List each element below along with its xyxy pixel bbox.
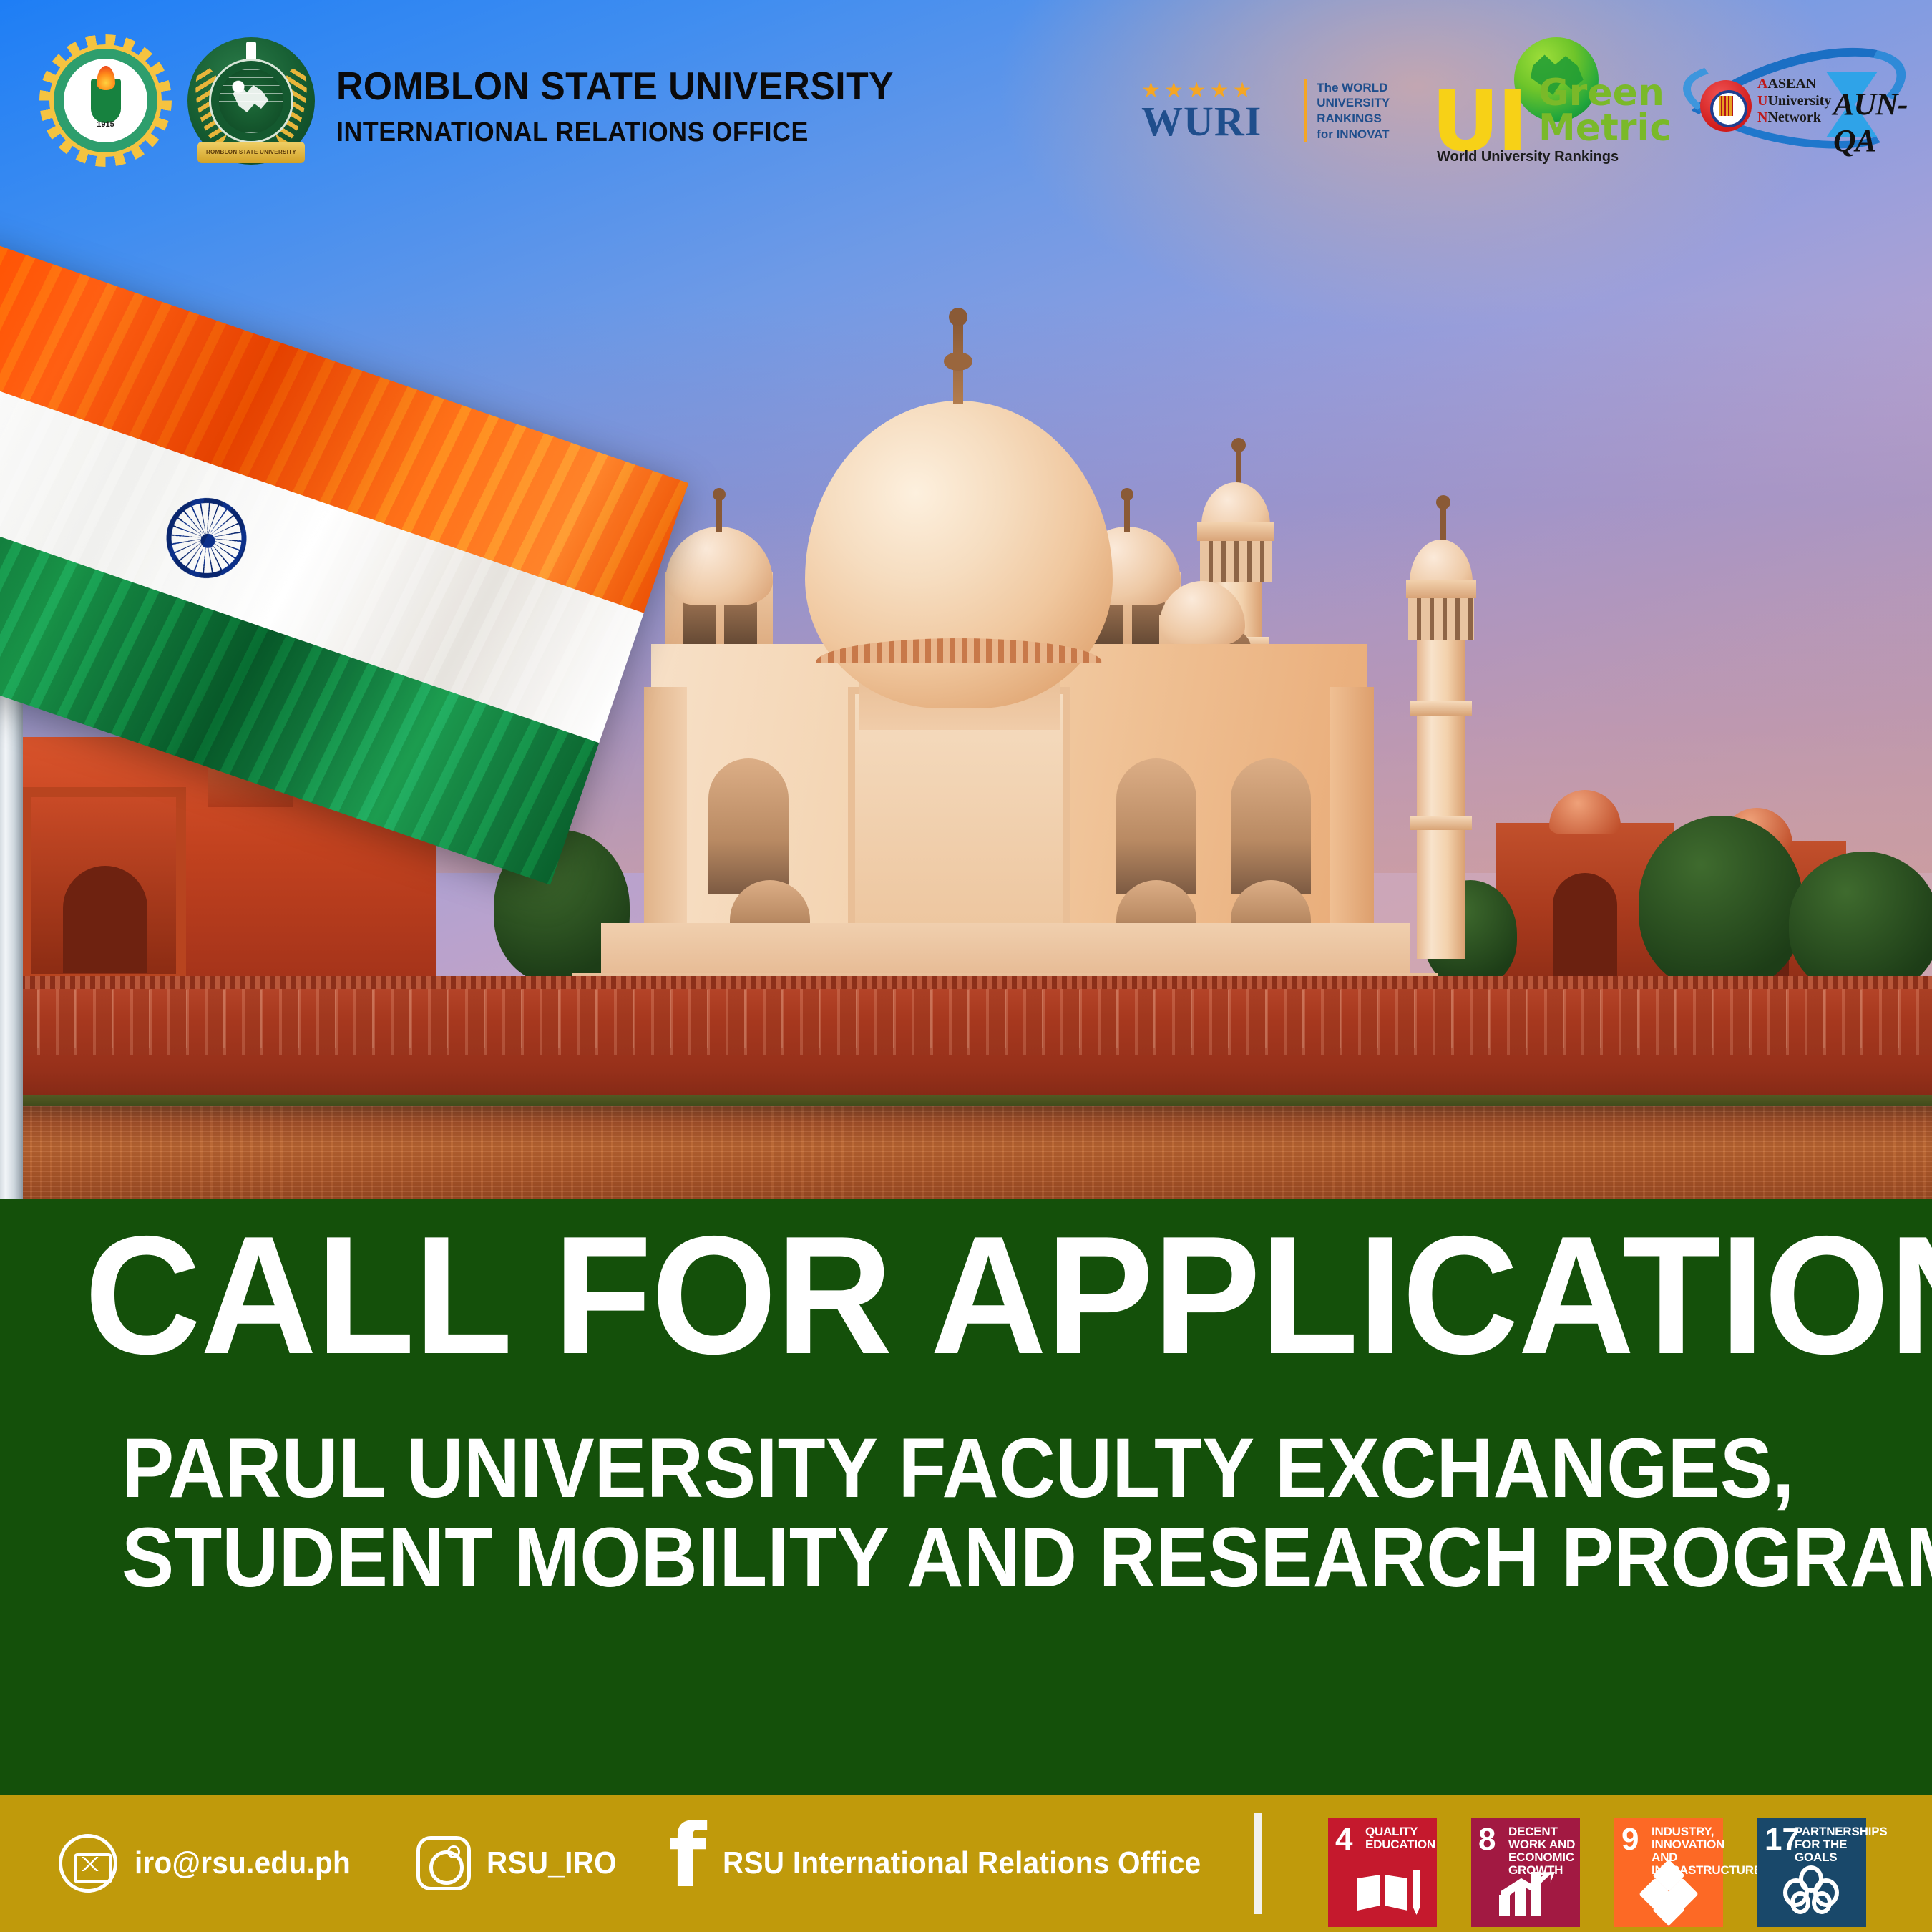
side-arch (708, 758, 789, 894)
interlocking-circles-icon (1757, 1863, 1866, 1923)
wuri-tagline-4: for INNOVAT (1317, 127, 1420, 142)
growth-chart-icon (1471, 1863, 1580, 1923)
university-name: ROMBLON STATE UNIVERSITY (336, 63, 894, 109)
sdg-title: QUALITY EDUCATION (1365, 1825, 1434, 1851)
contact-facebook[interactable]: RSU International Relations Office (628, 1833, 1243, 1894)
ui-greenmetric-logo: UI Green Metric World University Ranking… (1431, 34, 1667, 170)
poster-canvas: 1915 ROMBLON STATE UNIVERSITY ROMBLON ST… (0, 0, 1932, 1932)
organization-title-block: ROMBLON STATE UNIVERSITY INTERNATIONAL R… (336, 63, 930, 148)
open-book-and-pencil-icon (1328, 1863, 1437, 1923)
hero-photo (0, 0, 1932, 1202)
sdg-badge-8: 8 DECENT WORK AND ECONOMIC GROWTH (1471, 1818, 1580, 1927)
contact-instagram[interactable]: RSU_IRO (369, 1836, 628, 1890)
contact-instagram-label: RSU_IRO (487, 1845, 617, 1881)
aun-qa-wordmark: AUN-QA (1833, 86, 1911, 159)
contact-email-label: iro@rsu.edu.ph (135, 1845, 351, 1881)
gatehouse-portal (21, 787, 186, 984)
office-name: INTERNATIONAL RELATIONS OFFICE (336, 117, 894, 148)
contact-facebook-label: RSU International Relations Office (723, 1845, 1201, 1881)
minaret-right-outer (1417, 587, 1465, 959)
wuri-tagline-3: RANKINGS (1317, 111, 1420, 127)
program-subtitle: PARUL UNIVERSITY FACULTY EXCHANGES, STUD… (122, 1424, 1932, 1603)
tree-right-a (1639, 816, 1803, 991)
romblon-state-university-seal: 1915 (39, 34, 172, 167)
asean-university-network-text: AASEAN UUniversity NNetwork (1757, 76, 1831, 127)
chattri-left (665, 527, 773, 605)
sdg-number: 8 (1478, 1824, 1496, 1855)
facebook-icon (671, 1833, 710, 1894)
seal-year: 1915 (39, 120, 172, 129)
aun-line-1: ASEAN (1767, 76, 1816, 92)
sdg-badges: 4 QUALITY EDUCATION 8 DECENT WORK AND EC… (1328, 1818, 1866, 1927)
sdg-badge-9: 9 INDUSTRY, INNOVATION AND INFRASTRUCTUR… (1614, 1818, 1723, 1927)
subtitle-line-2: STUDENT MOBILITY AND RESEARCH PROGRAMS (122, 1513, 1932, 1603)
footer-divider (1254, 1813, 1262, 1914)
wuri-tagline: The WORLD UNIVERSITY RANKINGS for INNOVA… (1317, 80, 1420, 142)
sdg-title: PARTNERSHIPS FOR THE GOALS (1795, 1825, 1863, 1864)
wuri-logo: ★★★★★ WURI The WORLD UNIVERSITY RANKINGS… (1141, 72, 1420, 150)
contact-row: iro@rsu.edu.ph RSU_IRO RSU International… (0, 1795, 1259, 1932)
email-icon (59, 1834, 117, 1893)
aun-line-3: Network (1767, 109, 1820, 125)
poster-header: 1915 ROMBLON STATE UNIVERSITY ROMBLON ST… (0, 0, 1932, 179)
greenmetric-subtitle: World University Rankings (1437, 149, 1619, 165)
wuri-wordmark: WURI (1141, 102, 1294, 141)
page-title: CALL FOR APPLICATION (84, 1214, 1932, 1376)
sdg-number: 9 (1621, 1824, 1639, 1855)
seal-ribbon-text: ROMBLON STATE UNIVERSITY (197, 142, 305, 163)
aun-line-2: University (1767, 93, 1831, 109)
dome-finial (953, 323, 963, 404)
accreditation-logos: ★★★★★ WURI The WORLD UNIVERSITY RANKINGS… (1116, 29, 1918, 172)
cubes-icon (1614, 1863, 1723, 1923)
wuri-divider (1304, 79, 1307, 142)
wuri-tagline-1: The WORLD (1317, 80, 1420, 96)
contact-email[interactable]: iro@rsu.edu.ph (59, 1834, 369, 1893)
greenmetric-metric: Metric (1538, 111, 1672, 146)
sdg-badge-4: 4 QUALITY EDUCATION (1328, 1818, 1437, 1927)
subtitle-line-1: PARUL UNIVERSITY FACULTY EXCHANGES, (122, 1424, 1932, 1513)
sdg-number: 4 (1335, 1824, 1352, 1855)
side-arch (1231, 758, 1311, 894)
tree-right-b (1789, 852, 1932, 995)
greenmetric-mark: Green Metric (1538, 76, 1672, 146)
wuri-tagline-2: UNIVERSITY (1317, 95, 1420, 111)
side-arch (1116, 758, 1196, 894)
international-relations-office-seal: ROMBLON STATE UNIVERSITY (187, 37, 315, 165)
greenmetric-green: Green (1538, 76, 1672, 111)
sdg-badge-17: 17 PARTNERSHIPS FOR THE GOALS (1757, 1818, 1866, 1927)
announcement-banner: CALL FOR APPLICATION PARUL UNIVERSITY FA… (0, 1199, 1932, 1795)
aun-qa-logo: AASEAN UUniversity NNetwork AUN-QA (1674, 59, 1911, 152)
asean-emblem-icon (1700, 80, 1752, 132)
instagram-icon (416, 1836, 471, 1890)
